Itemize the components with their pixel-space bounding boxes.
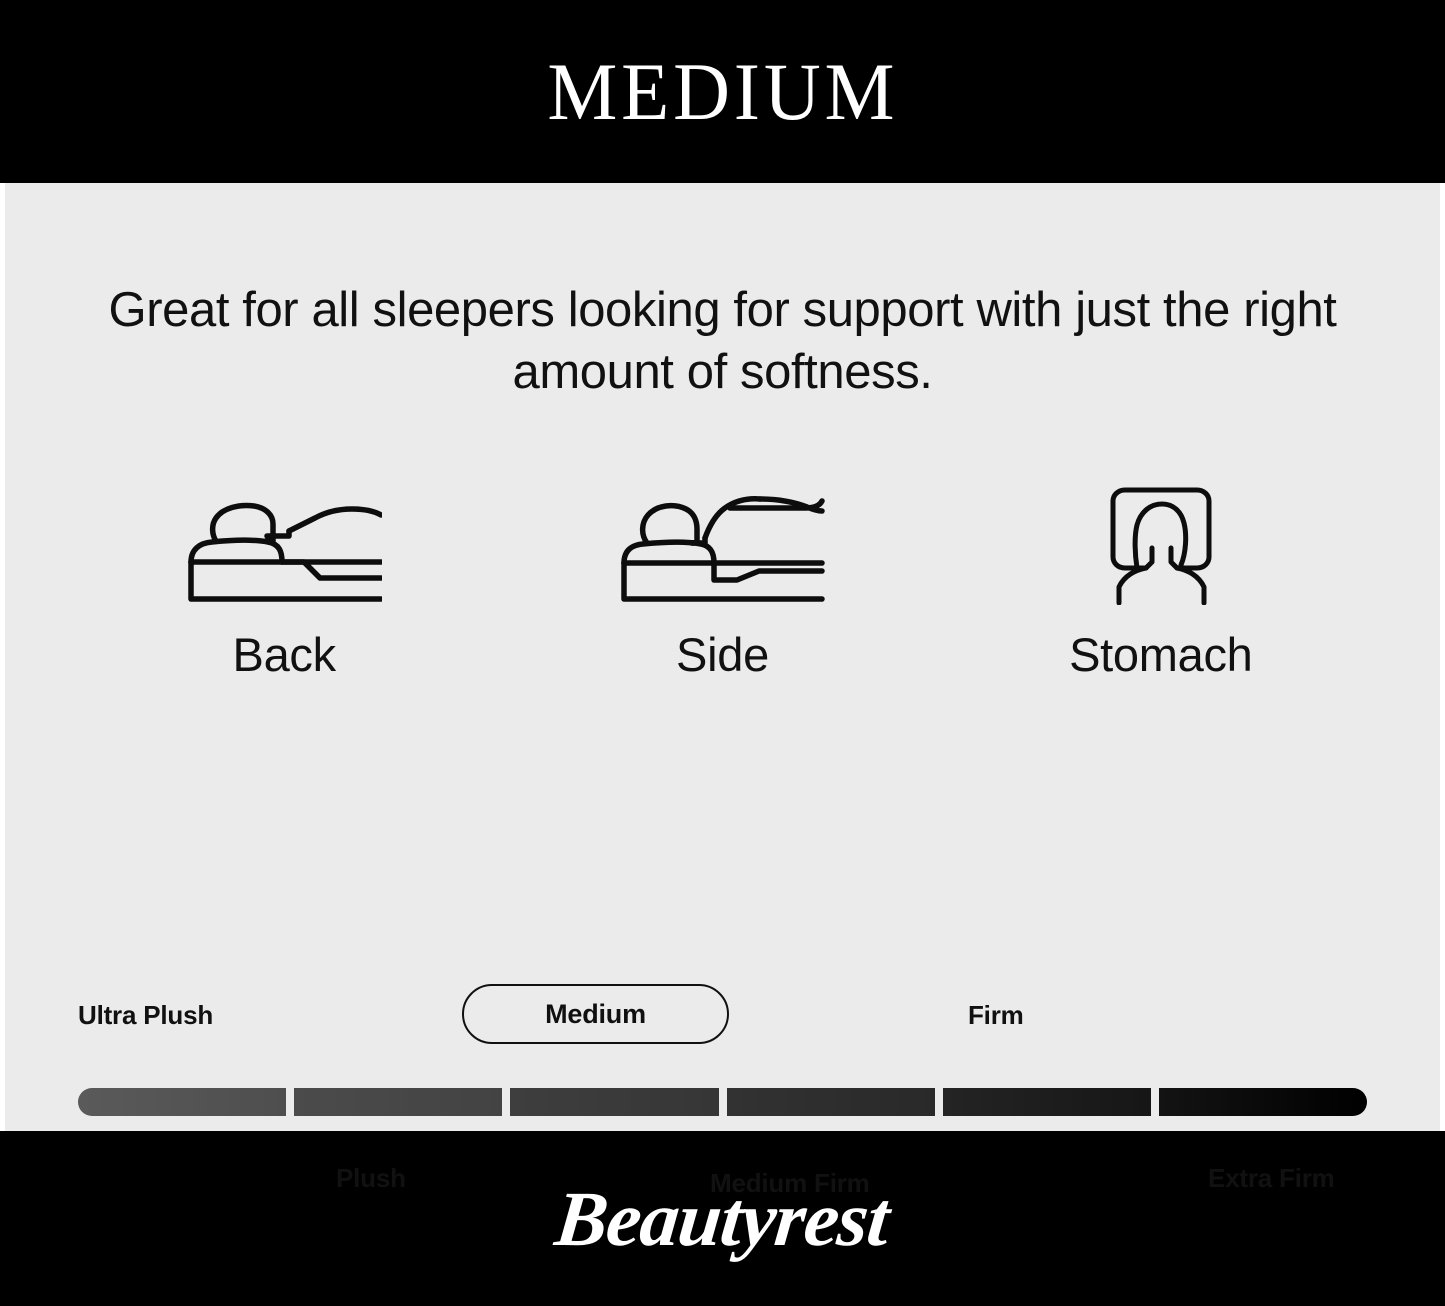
firmness-segment-firm[interactable] [943, 1088, 1151, 1116]
sleep-position-stomach: Stomach [942, 475, 1380, 682]
tagline-text: Great for all sleepers looking for suppo… [5, 183, 1440, 403]
firmness-segment-ultra-plush[interactable] [78, 1088, 286, 1116]
person-lying-on-back-icon [186, 475, 382, 605]
sleep-position-label: Back [233, 627, 336, 682]
sleep-position-back: Back [65, 475, 503, 682]
firmness-segment-medium-firm[interactable] [727, 1088, 935, 1116]
main-panel: Great for all sleepers looking for suppo… [5, 183, 1440, 1131]
firmness-info-card: MEDIUM Great for all sleepers looking fo… [0, 0, 1445, 1306]
firmness-top-labels: Ultra Plush Medium Firm [78, 978, 1367, 1050]
firmness-label-firm: Firm [968, 1000, 1024, 1031]
person-lying-on-stomach-icon [1091, 475, 1231, 605]
page-title: MEDIUM [547, 51, 898, 133]
firmness-label-ultra-plush: Ultra Plush [78, 1000, 213, 1031]
firmness-label-plush: Plush [336, 1163, 406, 1194]
sleep-position-label: Side [676, 627, 769, 682]
sleep-position-side: Side [503, 475, 941, 682]
firmness-segment-medium[interactable] [510, 1088, 718, 1116]
firmness-selected-pill[interactable]: Medium [462, 984, 729, 1044]
person-lying-on-side-icon [619, 475, 825, 605]
header-band: MEDIUM [0, 0, 1445, 183]
sleep-position-label: Stomach [1069, 627, 1252, 682]
beautyrest-logo: Beautyrest [552, 1180, 893, 1258]
firmness-segment-extra-firm[interactable] [1159, 1088, 1367, 1116]
firmness-gradient-bar[interactable] [78, 1088, 1367, 1116]
firmness-label-extra-firm: Extra Firm [1208, 1163, 1335, 1194]
firmness-segment-plush[interactable] [294, 1088, 502, 1116]
sleep-positions-group: Back [5, 475, 1440, 682]
